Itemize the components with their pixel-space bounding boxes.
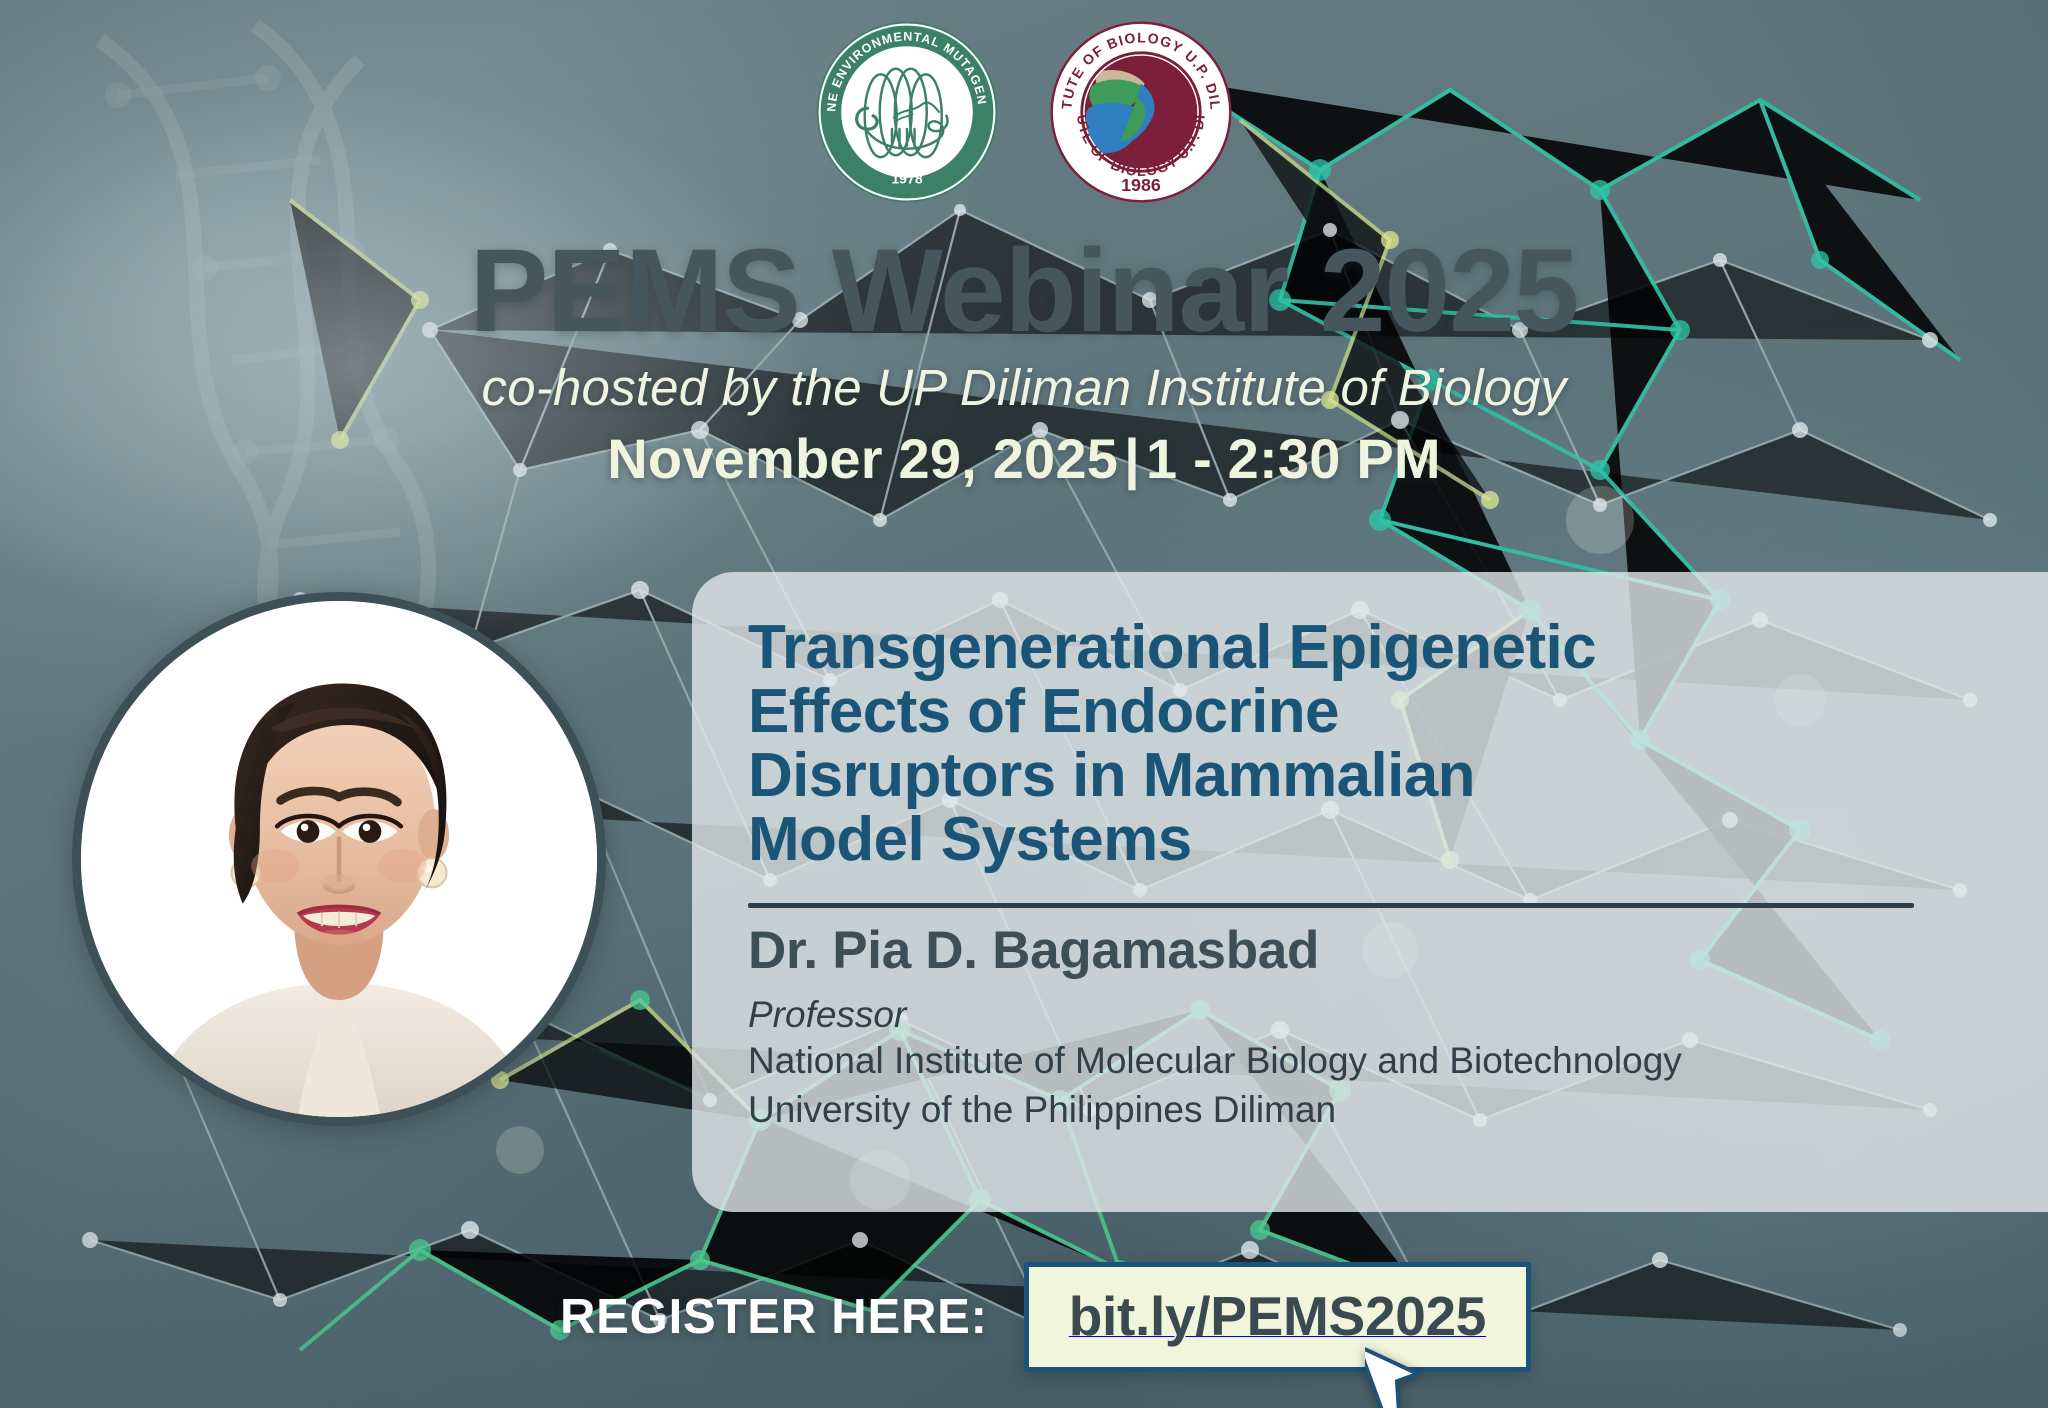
speaker-portrait <box>72 592 606 1126</box>
talk-title-line-2: Effects of Endocrine <box>748 677 1339 746</box>
speaker-affiliation-institute: National Institute of Molecular Biology … <box>748 1038 1988 1085</box>
speaker-role: Professor <box>748 994 1988 1037</box>
talk-info-panel: Transgenerational Epigenetic Effects of … <box>692 572 2048 1212</box>
logo-row: PHILIPPINE ENVIRONMENTAL MUTAGEN SOCIETY… <box>0 18 2048 206</box>
event-date: November 29, 2025 <box>607 427 1118 490</box>
talk-title: Transgenerational Epigenetic Effects of … <box>748 616 1988 873</box>
svg-text:1978: 1978 <box>891 170 923 186</box>
event-time: 1 - 2:30 PM <box>1146 427 1441 490</box>
registration-link-box[interactable]: bit.ly/PEMS2025 <box>1024 1262 1531 1372</box>
cohost-subtitle: co-hosted by the UP Diliman Institute of… <box>0 360 2048 416</box>
section-divider <box>748 903 1914 908</box>
talk-title-line-1: Transgenerational Epigenetic <box>748 613 1596 682</box>
institute-of-biology-logo: INSTITUTE OF BIOLOGY U.P. DILIMAN INSTIT… <box>1047 18 1235 206</box>
header-block: PEMS Webinar 2025 co-hosted by the UP Di… <box>0 232 2048 490</box>
mouse-cursor-icon <box>1365 1326 1425 1408</box>
webinar-poster: PHILIPPINE ENVIRONMENTAL MUTAGEN SOCIETY… <box>0 0 2048 1408</box>
talk-title-line-4: Model Systems <box>748 805 1192 874</box>
speaker-name: Dr. Pia D. Bagamasbad <box>748 922 1988 980</box>
speaker-affiliation-university: University of the Philippines Diliman <box>748 1087 1988 1134</box>
page-title: PEMS Webinar 2025 <box>0 232 2048 350</box>
date-time-separator: | <box>1118 427 1146 490</box>
svg-text:1986: 1986 <box>1121 175 1161 195</box>
pems-logo: PHILIPPINE ENVIRONMENTAL MUTAGEN SOCIETY… <box>813 18 1001 206</box>
date-time-line: November 29, 2025|1 - 2:30 PM <box>0 428 2048 490</box>
talk-title-line-3: Disruptors in Mammalian <box>748 741 1475 810</box>
register-here-label: REGISTER HERE: <box>560 1289 988 1345</box>
